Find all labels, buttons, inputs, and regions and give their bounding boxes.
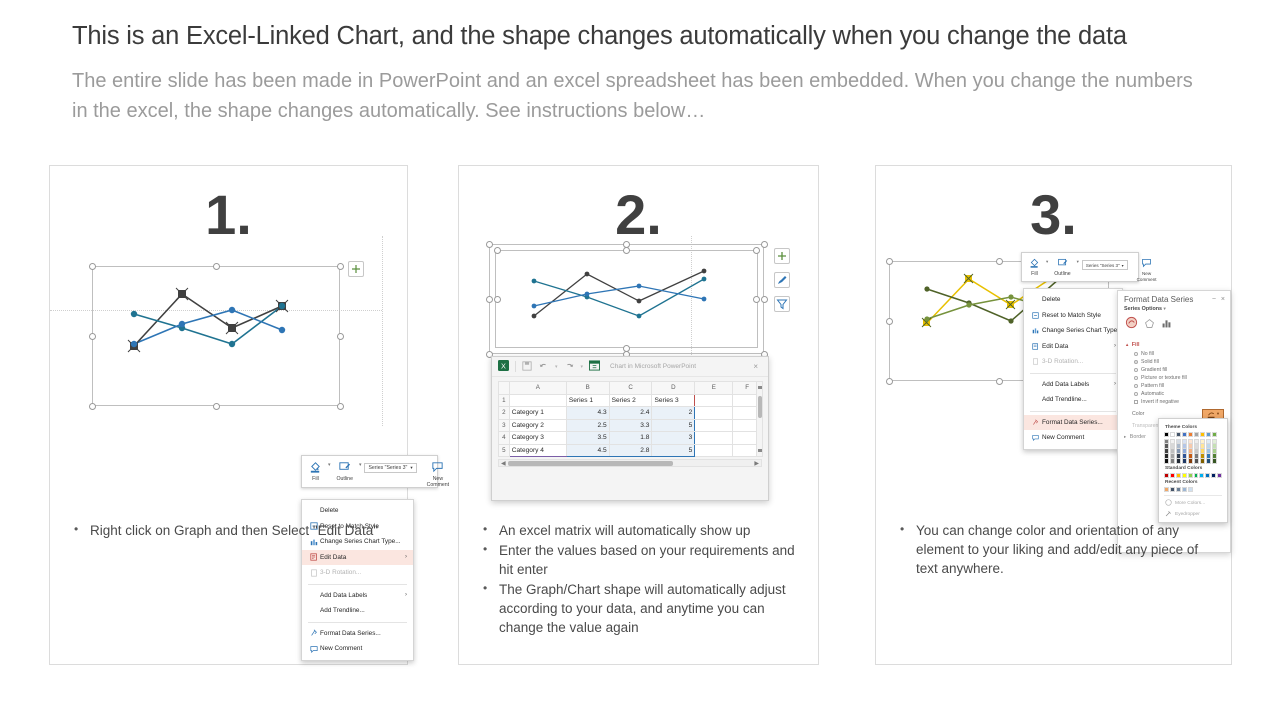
color-swatch[interactable] [1164,473,1169,478]
minimize-icon[interactable]: − [1212,296,1221,303]
outline-icon [338,460,351,475]
theme-color-column[interactable] [1164,439,1169,464]
option-label: No fill [1141,351,1154,357]
cell-b2[interactable]: 4.3 [566,407,609,420]
series-icon[interactable] [1161,316,1172,334]
panel-2-bullets: An excel matrix will automatically show … [477,521,804,638]
border-label: Border [1130,434,1146,440]
menu-item-label: Add Trendline... [320,607,407,614]
undo-dropdown-arrow-icon[interactable]: ▾ [555,364,558,370]
series-options-dropdown[interactable]: Series Options ▾ [1118,306,1230,314]
comment-icon [1141,257,1152,270]
fill-button[interactable]: Fill [306,459,325,483]
color-swatch[interactable] [1188,473,1193,478]
menu-item-format-data-series[interactable]: Format Data Series... [302,626,413,642]
panel-1-bullets: Right click on Graph and then Select "Ed… [68,521,393,541]
outline-icon [1057,257,1068,270]
excel-icon: X [498,358,509,376]
corner-cell [499,382,510,395]
instruction-panel-1: 1. [49,165,408,665]
chevron-down-icon: ▾ [1122,263,1124,268]
color-picker-flyout[interactable]: Theme Colors [1158,418,1228,523]
checkbox-icon [1134,400,1138,404]
menu-item-label: Format Data Series... [320,630,407,637]
format-pane-header: Format Data Series − × [1118,291,1230,306]
fill-icon [1029,257,1040,270]
color-swatch[interactable] [1217,473,1222,478]
color-swatch[interactable] [1194,432,1199,437]
menu-item-new-comment[interactable]: New Comment [1024,430,1122,446]
cell-d2[interactable]: 2 [652,407,695,420]
radio-icon-selected [1134,360,1138,364]
page-subtitle: The entire slide has been made in PowerP… [72,66,1197,126]
option-label: Solid fill [1141,359,1159,365]
menu-item-label: Add Data Labels [320,592,397,599]
theme-color-column[interactable] [1206,439,1211,464]
menu-item-reset-to-match-style[interactable]: Reset to Match Style [1024,308,1122,324]
menu-item-label: Delete [320,507,407,514]
undo-icon[interactable] [538,358,549,376]
cell-d3[interactable]: 5 [652,419,695,432]
scrollbar-thumb[interactable] [508,461,673,466]
outline-label: Outline [337,476,353,482]
svg-text:X: X [501,361,506,370]
color-swatch[interactable] [1176,487,1181,492]
menu-item-add-data-labels[interactable]: Add Data Labels › [302,588,413,604]
comment-icon [307,645,320,653]
color-swatch[interactable] [1176,432,1181,437]
expand-arrow-icon: ▴ [1126,342,1128,347]
cell-c1[interactable]: Series 2 [609,394,652,407]
fill-dropdown-arrow-icon[interactable]: ▾ [328,462,331,468]
excel-window[interactable]: X ▾ ▾ Chart in Microsoft PowerPoint × [491,356,769,501]
series-select-value: Series "Series 3" [368,465,407,471]
submenu-arrow-icon: › [1114,381,1116,387]
edit-data-icon [307,553,320,561]
cell-b4[interactable]: 3.5 [566,432,609,445]
new-comment-button[interactable]: New Comment [424,459,453,489]
color-swatch[interactable] [1182,473,1187,478]
edit-in-excel-icon[interactable] [589,358,600,376]
row-header-5[interactable]: 5 [499,444,510,457]
page-title: This is an Excel-Linked Chart, and the s… [72,22,1212,51]
rotation-icon [1029,358,1042,365]
color-swatch[interactable] [1176,473,1181,478]
option-label: Invert if negative [1141,399,1179,405]
guide-line-v [382,236,383,426]
standard-colors-row[interactable] [1164,473,1222,478]
option-picture-or-texture-fill[interactable]: Picture or texture fill [1118,374,1230,382]
table-row[interactable]: 4 Category 3 3.5 1.8 3 [499,432,762,445]
color-swatch[interactable] [1206,432,1211,437]
color-swatch[interactable] [1188,432,1193,437]
option-gradient-fill[interactable]: Gradient fill [1118,366,1230,374]
theme-color-column[interactable] [1176,439,1181,464]
instruction-panel-2: 2. [458,165,819,665]
radio-icon [1134,384,1138,388]
option-invert-if-negative[interactable]: Invert if negative [1118,398,1230,406]
theme-color-column[interactable] [1188,439,1193,464]
color-swatch[interactable] [1212,432,1217,437]
menu-item-3d-rotation: 3-D Rotation... [302,565,413,581]
submenu-arrow-icon: › [1114,343,1116,349]
cell-a5[interactable]: Category 4 [509,444,566,457]
menu-separator [308,584,407,585]
option-label: Picture or texture fill [1141,375,1187,381]
series-select[interactable]: Series "Series 3" ▾ [364,463,416,473]
table-row[interactable]: 2 Category 1 4.3 2.4 2 [499,407,762,420]
option-label: Gradient fill [1141,367,1167,373]
color-swatch[interactable] [1182,432,1187,437]
menu-item-label: Change Series Chart Type... [1042,327,1123,334]
row-header-4[interactable]: 4 [499,432,510,445]
radio-icon [1134,368,1138,372]
chart-object-1[interactable] [92,266,382,411]
close-icon[interactable]: × [1221,296,1225,303]
chart-elements-button[interactable] [348,261,364,277]
color-swatch[interactable] [1170,432,1175,437]
cell-b3[interactable]: 2.5 [566,419,609,432]
cell-d4[interactable]: 3 [652,432,695,445]
fill-section-label: Fill [1132,342,1140,348]
submenu-arrow-icon: › [405,592,407,598]
reset-icon [1029,312,1042,319]
cell-b1[interactable]: Series 1 [566,394,609,407]
more-colors-label: More Colors... [1175,501,1205,506]
excel-title-bar: X ▾ ▾ Chart in Microsoft PowerPoint × [492,357,768,377]
menu-item-add-trendline[interactable]: Add Trendline... [1024,392,1122,408]
series-options-label: Series Options [1124,306,1162,312]
menu-item-new-comment[interactable]: New Comment [302,641,413,657]
outline-button[interactable]: Outline [334,459,356,483]
menu-item-label: Edit Data [1042,343,1106,350]
list-item: An excel matrix will automatically show … [499,521,804,540]
list-item: You can change color and orientation of … [916,521,1217,578]
cell-e3[interactable] [695,419,733,432]
mini-toolbar-1[interactable]: Fill ▾ Outline ▾ Series "Series 3" ▾ New [301,455,438,488]
list-item: Right click on Graph and then Select "Ed… [90,521,393,540]
context-menu-3[interactable]: Delete Reset to Match Style Change Serie… [1023,288,1123,450]
panel-number-1: 1. [50,182,407,247]
radio-icon [1134,376,1138,380]
eyedropper-icon [1165,510,1172,519]
chart-elements-button[interactable] [774,248,790,264]
option-no-fill[interactable]: No fill [1118,350,1230,358]
menu-item-label: Reset to Match Style [1042,312,1116,319]
horizontal-scrollbar[interactable]: ◀ ▶ [498,459,762,467]
eyedropper-button[interactable]: Eyedropper [1164,508,1222,519]
menu-item-label: Add Data Labels [1042,381,1106,388]
rotation-icon [307,569,320,577]
color-swatch[interactable] [1205,473,1210,478]
column-header-e[interactable]: E [695,382,733,395]
color-swatch[interactable] [1170,473,1175,478]
outline-label: Outline [1054,271,1070,277]
bar-chart-icon [1029,327,1042,334]
standard-colors-label: Standard Colors [1165,466,1222,471]
theme-colors-base-row[interactable] [1164,432,1222,437]
comment-icon [431,460,444,475]
menu-item-label: Add Trendline... [1042,396,1116,403]
chevron-down-icon: ▾ [410,465,412,471]
color-swatch[interactable] [1200,432,1205,437]
menu-item-label: Edit Data [320,554,397,561]
column-header-c[interactable]: C [609,382,652,395]
close-icon[interactable]: × [753,362,762,371]
excel-title-text: Chart in Microsoft PowerPoint [610,363,747,370]
menu-item-label: 3-D Rotation... [320,569,407,576]
menu-item-label: New Comment [320,645,407,652]
fill-section-header[interactable]: ▴ Fill [1118,338,1230,350]
column-header-a[interactable]: A [509,382,566,395]
menu-item-format-data-series[interactable]: Format Data Series... [1024,415,1122,431]
cell-e5[interactable] [695,444,733,457]
effects-icon[interactable] [1144,316,1155,334]
column-header-d[interactable]: D [652,382,695,395]
chevron-down-icon: ▾ [1164,306,1166,311]
cell-d5[interactable]: 5 [652,444,695,457]
fill-label: Fill [312,476,319,482]
color-swatch[interactable] [1170,487,1175,492]
mini-toolbar-3[interactable]: Fill ▾ Outline ▾ Series "Series 3" ▾ New… [1021,252,1139,282]
vertical-scrollbar[interactable] [756,381,763,457]
table-row[interactable]: 1 Series 1 Series 2 Series 3 [499,394,762,407]
eyedropper-label: Eyedropper [1175,512,1200,517]
outline-dropdown-arrow-icon[interactable]: ▾ [359,462,362,468]
menu-item-delete[interactable]: Delete [302,503,413,519]
list-item: Enter the values based on your requireme… [499,541,804,579]
edit-data-icon [1029,343,1042,350]
option-automatic[interactable]: Automatic [1118,390,1230,398]
line-chart-svg-1 [92,266,340,406]
cell-b5[interactable]: 4.5 [566,444,609,457]
cell-d1[interactable]: Series 3 [652,394,695,407]
color-swatch[interactable] [1182,487,1187,492]
fill-dropdown-arrow-icon[interactable]: ▾ [1046,259,1048,265]
radio-icon [1134,392,1138,396]
column-header-b[interactable]: B [566,382,609,395]
fill-icon [309,460,322,475]
instruction-panel-3: 3. [875,165,1232,665]
menu-item-label: New Comment [1042,434,1116,441]
menu-item-label: Delete [1042,296,1116,303]
theme-color-column[interactable] [1194,439,1199,464]
format-pane-title: Format Data Series [1124,295,1193,304]
menu-item-add-data-labels[interactable]: Add Data Labels › [1024,377,1122,393]
radio-icon [1134,352,1138,356]
outline-dropdown-arrow-icon[interactable]: ▾ [1077,259,1079,265]
redo-dropdown-arrow-icon[interactable]: ▾ [581,364,584,370]
series-select-value: Series "Series 3" [1086,263,1120,268]
option-label: Automatic [1141,391,1164,397]
series-select[interactable]: Series "Series 3" ▾ [1082,260,1128,270]
option-pattern-fill[interactable]: Pattern fill [1118,382,1230,390]
cell-a2[interactable]: Category 1 [509,407,566,420]
theme-color-column[interactable] [1212,439,1217,464]
fill-button[interactable]: Fill [1026,256,1043,278]
menu-item-label: 3-D Rotation... [1042,358,1116,365]
more-colors-button[interactable]: More Colors... [1164,497,1222,508]
fill-label: Fill [1031,271,1038,277]
menu-separator [1030,411,1116,412]
cell-a3[interactable]: Category 2 [509,419,566,432]
new-comment-label-l2: Comment [427,482,450,488]
color-swatch[interactable] [1211,473,1216,478]
comment-icon [1029,434,1042,441]
fill-icon[interactable] [1125,316,1138,334]
color-label: Color [1132,411,1144,417]
cell-c3[interactable]: 3.3 [609,419,652,432]
scroll-right-icon[interactable]: ▶ [754,460,761,467]
submenu-arrow-icon: › [405,554,407,560]
menu-item-label: Format Data Series... [1042,419,1116,426]
cell-e4[interactable] [695,432,733,445]
cell-e2[interactable] [695,407,733,420]
format-series-icon [1029,419,1042,426]
menu-item-3d-rotation: 3-D Rotation... [1024,354,1122,370]
format-series-icon [307,629,320,637]
menu-item-change-series-chart-type[interactable]: Change Series Chart Type... [1024,323,1122,339]
theme-color-column[interactable] [1200,439,1205,464]
row-header-2[interactable]: 2 [499,407,510,420]
menu-separator [308,622,407,623]
excel-grid[interactable]: A B C D E F 1 Series 1 Series 2 Series 3 [498,381,762,457]
theme-color-column[interactable] [1182,439,1187,464]
new-comment-label-l2: Comment [1137,277,1157,283]
menu-item-edit-data[interactable]: Edit Data › [1024,339,1122,355]
recent-colors-row[interactable] [1164,487,1222,492]
color-swatch[interactable] [1194,473,1199,478]
theme-color-column[interactable] [1170,439,1175,464]
panel-number-2: 2. [459,182,818,247]
outline-button[interactable]: Outline [1051,256,1073,278]
menu-item-add-trendline[interactable]: Add Trendline... [302,603,413,619]
color-swatch[interactable] [1188,487,1193,492]
chevron-down-icon: ▾ [1217,411,1219,417]
line-chart-svg-2 [489,244,764,354]
cell-c4[interactable]: 1.8 [609,432,652,445]
row-header-1[interactable]: 1 [499,394,510,407]
table-row[interactable]: 3 Category 2 2.5 3.3 5 [499,419,762,432]
panel-number-3: 3. [876,182,1231,247]
list-item: The Graph/Chart shape will automatically… [499,580,804,637]
cell-a4[interactable]: Category 3 [509,432,566,445]
format-pane-tabs[interactable] [1118,314,1230,338]
theme-colors-label: Theme Colors [1165,425,1222,430]
row-header-3[interactable]: 3 [499,419,510,432]
more-colors-icon [1165,499,1172,508]
chart-object-2[interactable] [489,244,799,374]
panel-3-bullets: You can change color and orientation of … [894,521,1217,579]
cell-c5[interactable]: 2.8 [609,444,652,457]
chart-styles-button[interactable] [774,272,790,288]
cell-a1[interactable] [509,394,566,407]
save-icon[interactable] [522,358,532,376]
cell-c2[interactable]: 2.4 [609,407,652,420]
chart-filters-button[interactable] [774,296,790,312]
menu-separator [1030,373,1116,374]
flyout-separator [1164,495,1222,496]
menu-item-delete[interactable]: Delete [1024,292,1122,308]
new-comment-button[interactable]: New Comment [1134,256,1160,284]
color-swatch[interactable] [1164,432,1169,437]
redo-icon[interactable] [564,358,575,376]
table-row[interactable]: 5 Category 4 4.5 2.8 5 [499,444,762,457]
option-solid-fill[interactable]: Solid fill [1118,358,1230,366]
scroll-left-icon[interactable]: ◀ [499,460,506,467]
recent-colors-label: Recent Colors [1165,480,1222,485]
theme-colors-variants[interactable] [1164,439,1222,464]
menu-item-edit-data[interactable]: Edit Data › [302,550,413,566]
color-swatch[interactable] [1199,473,1204,478]
option-label: Pattern fill [1141,383,1164,389]
collapse-arrow-icon: ▸ [1124,434,1126,439]
color-swatch[interactable] [1164,487,1169,492]
cell-e1[interactable] [695,394,733,407]
